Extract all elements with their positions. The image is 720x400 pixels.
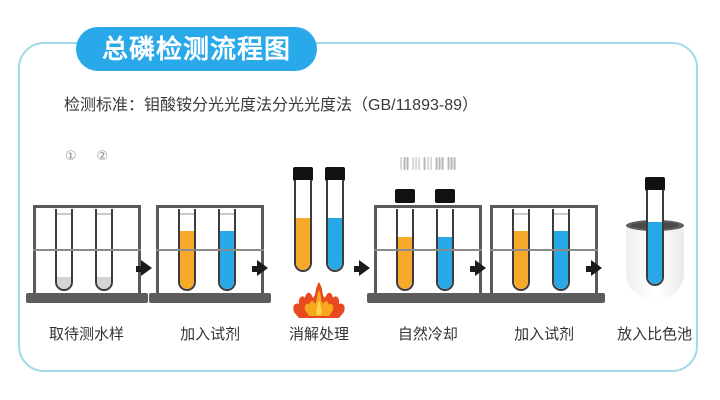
arrow-5-icon: [589, 164, 615, 342]
step-natural-cooling: 自然冷却: [383, 132, 473, 342]
tube-cap: [645, 177, 665, 191]
tube-liquid-orange: [296, 218, 310, 270]
rack-base: [483, 293, 605, 303]
tube-marker-1: ①: [65, 149, 77, 162]
rack-base: [367, 293, 489, 303]
tube-marker-2: ②: [97, 149, 109, 162]
test-tube-rack-icon: [33, 193, 141, 303]
tube-cap-1: [293, 167, 313, 181]
step-4-illustration: [383, 147, 473, 325]
tube-liquid-blue: [648, 222, 662, 284]
process-steps: ① ② 取待测水样: [34, 132, 694, 342]
tube-cap-1: [395, 189, 415, 203]
rack-frame: [156, 205, 264, 297]
test-tube-rack-icon: [156, 193, 264, 303]
step-2-illustration: [165, 147, 255, 325]
rack-base: [149, 293, 271, 303]
rack-midbar: [156, 249, 264, 251]
step-1-caption: 取待测水样: [49, 327, 124, 342]
tube-cap-2: [435, 189, 455, 203]
arrow-2-icon: [255, 164, 281, 342]
step-digestion: 消解处理: [281, 132, 356, 342]
test-tube-rack-icon: [374, 173, 482, 303]
tube-number-row: ① ②: [65, 149, 108, 162]
page-title-label: 总磷检测流程图: [102, 36, 291, 62]
page-title: 总磷检测流程图: [76, 27, 317, 71]
test-tube: [646, 190, 664, 286]
rack-frame: [374, 205, 482, 297]
step-5-illustration: [499, 147, 589, 325]
step-6-caption: 放入比色池: [617, 327, 692, 342]
step-1-illustration: ① ②: [34, 147, 139, 325]
step-3-caption: 消解处理: [289, 327, 349, 342]
test-tube-2: [326, 180, 344, 272]
step-3-illustration: [281, 147, 356, 325]
step-take-water-sample: ① ② 取待测水样: [34, 132, 139, 342]
rack-frame: [33, 205, 141, 297]
tube-cap-2: [325, 167, 345, 181]
rack-midbar: [490, 249, 598, 251]
flame-icon: [287, 280, 351, 325]
flowchart-canvas: 总磷检测流程图 检测标准：钼酸铵分光光度法分光光度法（GB/11893-89） …: [0, 0, 720, 400]
rack-midbar: [374, 249, 482, 251]
rack-midbar: [33, 249, 141, 251]
detection-standard-subtitle: 检测标准：钼酸铵分光光度法分光光度法（GB/11893-89）: [64, 91, 478, 115]
step-2-caption: 加入试剂: [180, 327, 240, 342]
tubes-over-flame-icon: [287, 167, 351, 285]
steam-icon: [400, 157, 455, 170]
rack-base: [26, 293, 148, 303]
test-tube-rack-icon: [490, 193, 598, 303]
tube-in-cell: [644, 177, 666, 289]
step-add-reagent-2: 加入试剂: [499, 132, 589, 342]
test-tube-1: [294, 180, 312, 272]
tube-liquid-blue: [328, 218, 342, 270]
step-5-caption: 加入试剂: [514, 327, 574, 342]
step-6-illustration: [615, 147, 694, 325]
rack-frame: [490, 205, 598, 297]
step-add-reagent-1: 加入试剂: [165, 132, 255, 342]
step-4-caption: 自然冷却: [398, 327, 458, 342]
step-place-in-colorimetric-cell: 放入比色池: [615, 132, 694, 342]
